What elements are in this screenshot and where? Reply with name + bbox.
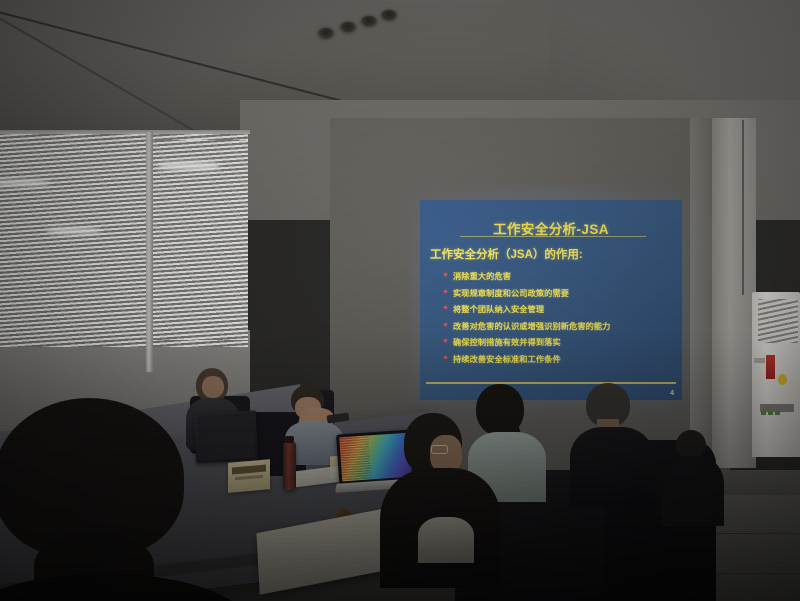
slide-bullet: 实现规章制度和公司政策的需要	[442, 287, 682, 299]
name-card-subtext	[235, 475, 263, 480]
name-card-text	[232, 465, 266, 475]
closed-laptop[interactable]	[194, 410, 259, 463]
blind-glare	[0, 180, 50, 186]
slide-title: 工作安全分析-JSA	[420, 218, 682, 238]
ac-control-panel[interactable]	[760, 404, 794, 412]
ac-sticker-icon	[778, 374, 787, 385]
slide-footer-rule	[426, 382, 676, 384]
bottle-cap	[285, 436, 294, 443]
meeting-room-photo: 工作安全分析-JSA 工作安全分析（JSA）的作用: 消除重大的危害 实现规章制…	[0, 0, 800, 601]
laptop-wallpaper	[339, 433, 412, 482]
downlight-icon	[318, 28, 334, 39]
attendee-short-hair	[586, 383, 630, 427]
ac-energy-label	[766, 355, 775, 379]
slide-bullet: 消除重大的危害	[442, 270, 682, 282]
blind-glare	[46, 228, 101, 234]
downlight-icon	[340, 22, 356, 33]
face	[202, 376, 224, 398]
partition-header	[0, 130, 250, 134]
laptop-lid	[197, 414, 255, 461]
slide-bullet-list: 消除重大的危害 实现规章制度和公司政策的需要 将整个团队纳入安全管理 改善对危害…	[442, 270, 682, 370]
water-bottle[interactable]	[283, 442, 296, 490]
slide-bullet: 持续改善安全标准和工作条件	[442, 353, 682, 365]
downlight-icon	[381, 10, 397, 21]
collar	[418, 517, 474, 563]
glass-partition-right	[152, 140, 248, 340]
projection-screen: 工作安全分析-JSA 工作安全分析（JSA）的作用: 消除重大的危害 实现规章制…	[420, 200, 682, 400]
head	[404, 413, 462, 475]
attendee-ponytail	[476, 384, 524, 436]
downlight-icon	[361, 16, 377, 27]
foreground-attendee	[0, 398, 184, 558]
ac-vent-grille-icon	[758, 299, 798, 343]
eyeglasses-icon	[431, 445, 448, 454]
partition-mullion	[146, 132, 153, 372]
attendee-hand-on-face	[291, 385, 324, 415]
air-conditioner-unit[interactable]	[752, 292, 800, 457]
slide-subtitle: 工作安全分析（JSA）的作用:	[430, 246, 680, 262]
slide-bullet: 改善对危害的认识或增强识别新危害的能力	[442, 320, 682, 332]
attendee-with-glasses	[404, 413, 462, 475]
blind-glare	[158, 162, 220, 170]
ac-column-seam	[742, 120, 744, 295]
slide-number: 4	[670, 390, 674, 397]
torso	[570, 427, 654, 507]
slide-bullet: 确保控制措施有效并得到落实	[442, 336, 682, 348]
slide-bullet: 将整个团队纳入安全管理	[442, 303, 682, 315]
desk-name-card	[228, 459, 270, 493]
head	[196, 368, 228, 402]
attendee-far-right	[676, 430, 706, 460]
window-blinds	[152, 140, 248, 340]
slide-title-underline	[460, 236, 646, 237]
ac-column	[712, 118, 756, 468]
torso	[662, 456, 724, 526]
ac-brand-mark	[754, 358, 765, 363]
seated-presenter	[196, 368, 228, 402]
